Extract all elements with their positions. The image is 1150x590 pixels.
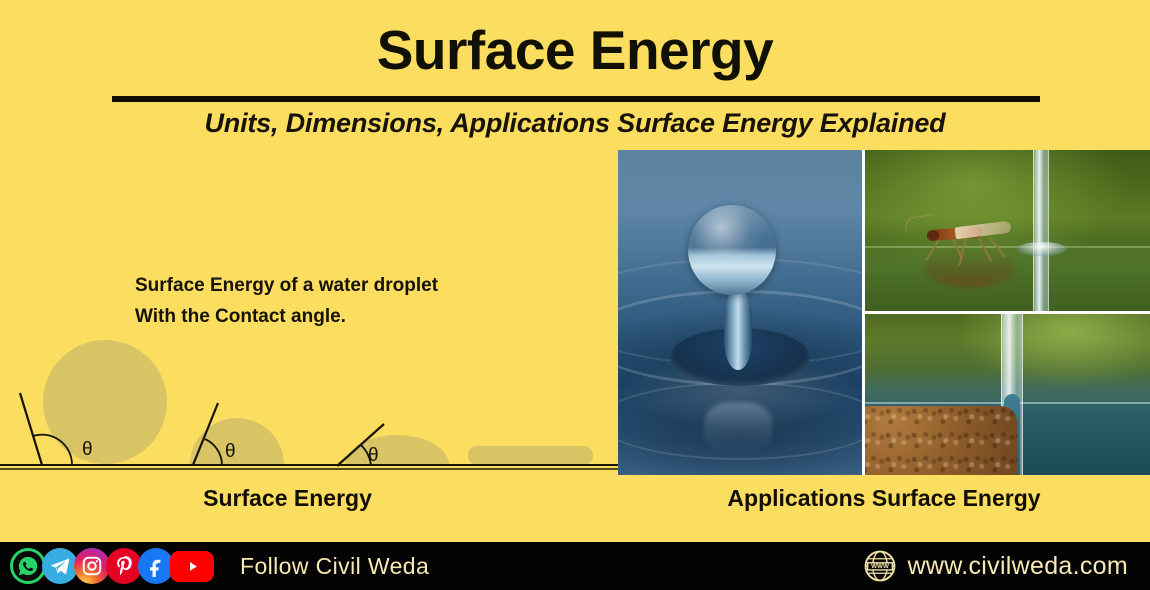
fully-wetting-droplet bbox=[468, 446, 593, 465]
footer-bar: Follow Civil Weda WWW www.civilweda.com bbox=[0, 542, 1150, 590]
strider-wing bbox=[954, 221, 1011, 240]
left-caption-line-2: With the Contact angle. bbox=[135, 301, 565, 332]
globe-www-label: WWW bbox=[871, 563, 889, 570]
droplet-sphere bbox=[688, 205, 776, 295]
contact-angle-diagram: θ θ θ bbox=[0, 335, 618, 480]
pinterest-icon[interactable] bbox=[106, 548, 142, 584]
theta-label-1: θ bbox=[82, 439, 93, 460]
youtube-icon[interactable] bbox=[170, 551, 214, 582]
medium-contact-angle-droplet bbox=[190, 418, 284, 465]
low-contact-angle-droplet bbox=[345, 435, 449, 465]
image-column-left bbox=[618, 150, 862, 475]
left-caption-line-1: Surface Energy of a water droplet bbox=[135, 270, 565, 301]
water-line bbox=[865, 246, 1150, 248]
high-contact-angle-droplet bbox=[43, 340, 167, 464]
soil-texture bbox=[865, 406, 1017, 475]
image-grid bbox=[618, 150, 1150, 475]
water-strider-photo bbox=[865, 150, 1150, 311]
water-droplet-photo bbox=[618, 150, 862, 475]
tangent-line-1 bbox=[20, 393, 42, 465]
left-caption: Surface Energy of a water droplet With t… bbox=[135, 270, 565, 333]
page-subtitle: Units, Dimensions, Applications Surface … bbox=[0, 108, 1150, 139]
droplet-column bbox=[724, 288, 752, 370]
header: Surface Energy Units, Dimensions, Applic… bbox=[0, 0, 1150, 145]
instagram-icon[interactable] bbox=[74, 548, 110, 584]
theta-label-2: θ bbox=[225, 441, 236, 462]
tube-meniscus bbox=[1017, 242, 1067, 256]
left-figure-label: Surface Energy bbox=[0, 485, 575, 512]
image-column-right bbox=[865, 150, 1150, 475]
left-panel: Surface Energy of a water droplet With t… bbox=[0, 145, 618, 542]
capillary-action-photo bbox=[865, 314, 1150, 475]
poster-canvas: Surface Energy Units, Dimensions, Applic… bbox=[0, 0, 1150, 590]
social-icon-group bbox=[10, 548, 210, 584]
right-figure-label: Applications Surface Energy bbox=[618, 485, 1150, 512]
whatsapp-icon[interactable] bbox=[10, 548, 46, 584]
globe-icon: WWW bbox=[863, 549, 897, 583]
page-title: Surface Energy bbox=[0, 22, 1150, 80]
title-divider bbox=[112, 96, 1040, 102]
glass-tube bbox=[1033, 150, 1049, 311]
site-url-text[interactable]: www.civilweda.com bbox=[908, 552, 1128, 581]
telegram-icon[interactable] bbox=[42, 548, 78, 584]
site-link-group[interactable]: WWW www.civilweda.com bbox=[863, 549, 1128, 583]
theta-label-3: θ bbox=[368, 445, 379, 466]
droplet-reflection bbox=[704, 402, 772, 454]
strider-head bbox=[927, 230, 939, 241]
follow-text: Follow Civil Weda bbox=[240, 553, 429, 580]
facebook-icon[interactable] bbox=[138, 548, 174, 584]
